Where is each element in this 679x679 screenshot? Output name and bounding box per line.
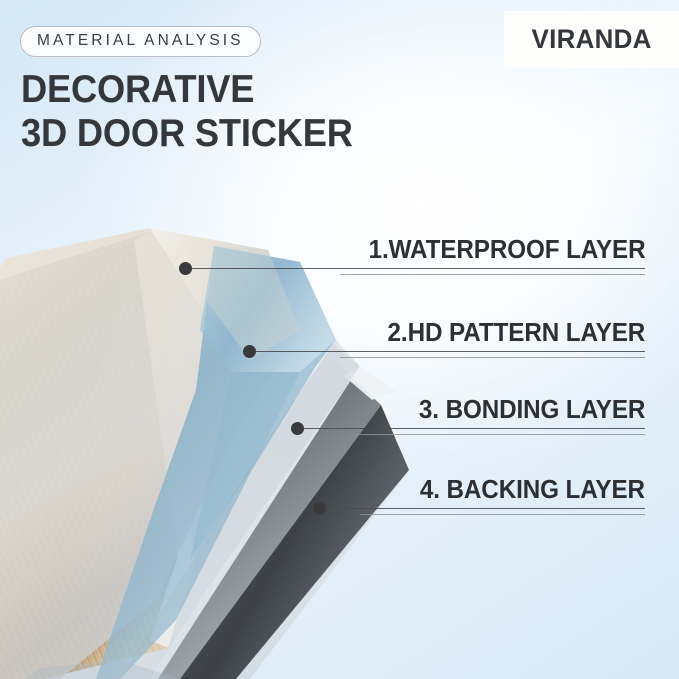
callout-leader-3 bbox=[304, 428, 645, 429]
callout-leader-1 bbox=[192, 268, 645, 269]
product-infographic: MATERIAL ANALYSIS DECORATIVE 3D DOOR STI… bbox=[0, 0, 679, 679]
title-line-1: DECORATIVE bbox=[21, 68, 254, 111]
callout-rule-3 bbox=[355, 434, 645, 435]
callout-label-4: 4. BACKING LAYER bbox=[408, 478, 645, 504]
callout-dot-1 bbox=[179, 262, 192, 275]
callout-label-1: 1.WATERPROOF LAYER bbox=[354, 238, 646, 264]
callout-label-2: 2.HD PATTERN LAYER bbox=[374, 321, 645, 347]
title-line-2: 3D DOOR STICKER bbox=[21, 112, 353, 156]
callout-dot-3 bbox=[291, 422, 304, 435]
callout-dot-4 bbox=[313, 502, 326, 515]
callout-leader-2 bbox=[256, 351, 645, 352]
callout-rule-4 bbox=[360, 514, 645, 515]
brand-logo-text: VIRANDA bbox=[531, 24, 651, 55]
callout-rule-2 bbox=[340, 357, 645, 358]
callout-dot-2 bbox=[243, 345, 256, 358]
callout-label-3: 3. BONDING LAYER bbox=[407, 398, 645, 424]
brand-logo: VIRANDA bbox=[504, 11, 679, 68]
callout-leader-4 bbox=[326, 508, 645, 509]
page-title: DECORATIVE 3D DOOR STICKER bbox=[21, 68, 353, 155]
material-analysis-badge: MATERIAL ANALYSIS bbox=[20, 26, 261, 57]
callout-rule-1 bbox=[340, 274, 645, 275]
